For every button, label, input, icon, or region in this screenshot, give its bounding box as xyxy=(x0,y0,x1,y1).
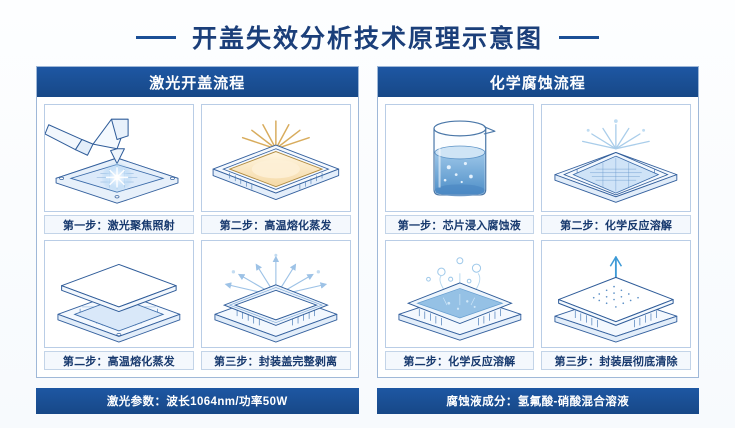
caption-laser-4: 第三步：封装盖完整剥离 xyxy=(201,351,351,370)
caption-laser-3: 第二步：高温熔化蒸发 xyxy=(44,351,194,370)
page-title-row: 开盖失效分析技术原理示意图 xyxy=(0,18,735,56)
figure-laser-head-on-chip xyxy=(44,104,194,212)
step-laser-2: 第二步：高温熔化蒸发 xyxy=(201,104,351,234)
caption-chem-2: 第二步：化学反应溶解 xyxy=(541,215,691,234)
figure-beaker-with-acid xyxy=(385,104,535,212)
panels-container: 激光开盖流程 xyxy=(36,66,699,378)
chip-glowing-rays-icon xyxy=(202,105,350,211)
chip-lid-lifting-icon xyxy=(45,241,193,347)
step-chem-4: 第三步：封装层彻底清除 xyxy=(541,240,691,370)
title-rule-left xyxy=(136,36,176,39)
figure-chip-lid-removed-arrows xyxy=(201,240,351,348)
chip-lid-removed-arrows-icon xyxy=(202,241,350,347)
step-chem-2: 第二步：化学反应溶解 xyxy=(541,104,691,234)
title-rule-right xyxy=(559,36,599,39)
step-laser-1: 第一步：激光聚焦照射 xyxy=(44,104,194,234)
caption-chem-4: 第三步：封装层彻底清除 xyxy=(541,351,691,370)
caption-laser-1: 第一步：激光聚焦照射 xyxy=(44,215,194,234)
footer-laser-params: 激光参数：波长1064nm/功率50W xyxy=(36,388,359,414)
figure-exposed-die-probe xyxy=(541,240,691,348)
figure-chip-submerged-bubbles xyxy=(385,240,535,348)
caption-chem-3: 第二步：化学反应溶解 xyxy=(385,351,535,370)
panel-laser-title: 激光开盖流程 xyxy=(37,67,358,97)
panel-laser: 激光开盖流程 xyxy=(36,66,359,378)
caption-laser-2: 第二步：高温熔化蒸发 xyxy=(201,215,351,234)
step-laser-3: 第二步：高温熔化蒸发 xyxy=(44,240,194,370)
panel-chemical-body: 第一步：芯片浸入腐蚀液 xyxy=(378,97,699,377)
beaker-with-acid-icon xyxy=(386,105,534,211)
step-laser-4: 第三步：封装盖完整剥离 xyxy=(201,240,351,370)
chip-submerged-bubbles-icon xyxy=(386,241,534,347)
exposed-die-probe-icon xyxy=(542,241,690,347)
step-chem-1: 第一步：芯片浸入腐蚀液 xyxy=(385,104,535,234)
panel-laser-body: 第一步：激光聚焦照射 xyxy=(37,97,358,377)
figure-chip-lid-lifting xyxy=(44,240,194,348)
panel-chemical-title: 化学腐蚀流程 xyxy=(378,67,699,97)
caption-chem-1: 第一步：芯片浸入腐蚀液 xyxy=(385,215,535,234)
step-chem-3: 第二步：化学反应溶解 xyxy=(385,240,535,370)
footer-container: 激光参数：波长1064nm/功率50W 腐蚀液成分：氢氟酸-硝酸混合溶液 xyxy=(36,388,699,414)
page-title: 开盖失效分析技术原理示意图 xyxy=(192,19,543,55)
figure-chip-sparkles xyxy=(541,104,691,212)
laser-head-on-chip-icon xyxy=(45,105,193,211)
panel-chemical: 化学腐蚀流程 xyxy=(377,66,700,378)
figure-chip-glowing-rays xyxy=(201,104,351,212)
infographic-page: 开盖失效分析技术原理示意图 激光开盖流程 xyxy=(0,0,735,428)
chip-sparkles-icon xyxy=(542,105,690,211)
footer-etchant-composition: 腐蚀液成分：氢氟酸-硝酸混合溶液 xyxy=(377,388,700,414)
